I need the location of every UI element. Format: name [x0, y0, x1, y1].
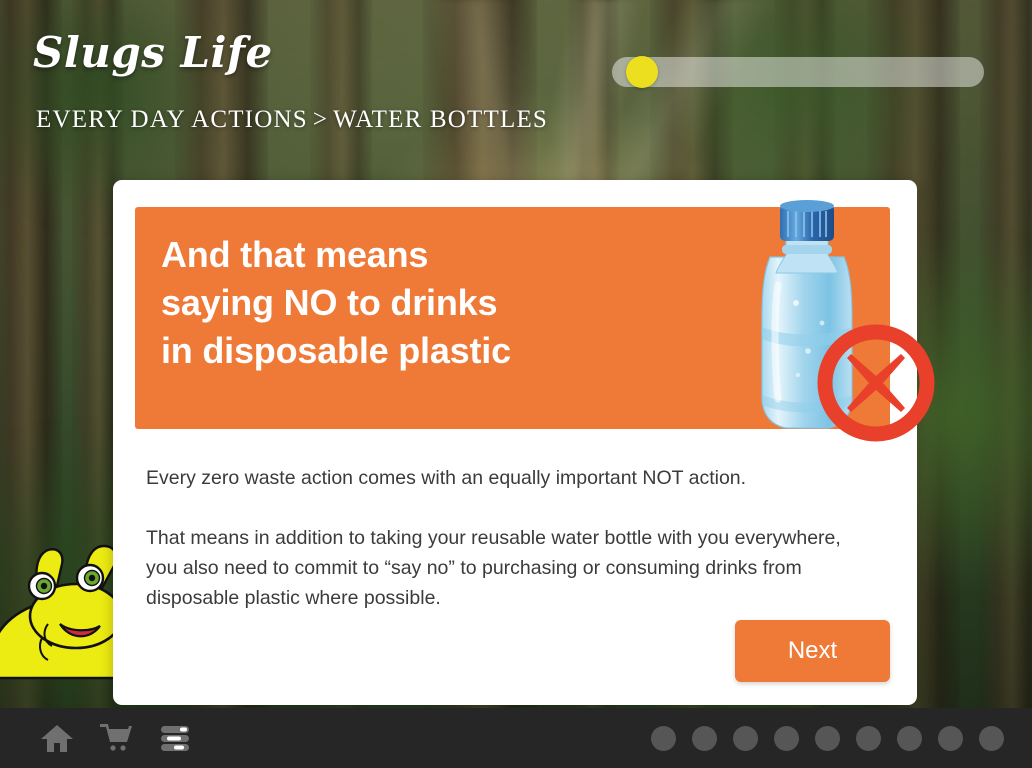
pagination-dot[interactable] [815, 726, 840, 751]
breadcrumb: EVERY DAY ACTIONS>WATER BOTTLES [36, 107, 548, 132]
body-copy: Every zero waste action comes with an eq… [146, 463, 846, 613]
breadcrumb-parent[interactable]: EVERY DAY ACTIONS [36, 106, 308, 133]
pagination-dot[interactable] [651, 726, 676, 751]
headline-banner: And that means saying NO to drinks in di… [135, 207, 890, 429]
progress-knob[interactable] [626, 56, 658, 88]
prohibition-icon [813, 320, 939, 446]
pagination-dot[interactable] [856, 726, 881, 751]
pagination-dot[interactable] [897, 726, 922, 751]
home-icon[interactable] [38, 719, 76, 757]
footer-bar [0, 708, 1032, 768]
pagination-dot[interactable] [774, 726, 799, 751]
footer-icon-group [38, 708, 194, 768]
settings-sliders-icon[interactable] [156, 719, 194, 757]
cart-icon[interactable] [97, 719, 135, 757]
pagination-dot[interactable] [979, 726, 1004, 751]
content-card: And that means saying NO to drinks in di… [113, 180, 917, 705]
pagination-dots [651, 708, 1004, 768]
body-paragraph-1: Every zero waste action comes with an eq… [146, 463, 846, 493]
headline-text: And that means saying NO to drinks in di… [161, 231, 721, 375]
pagination-dot[interactable] [692, 726, 717, 751]
next-button[interactable]: Next [735, 620, 890, 682]
breadcrumb-separator: > [313, 106, 328, 133]
pagination-dot[interactable] [938, 726, 963, 751]
app-title: Slugs Life [33, 32, 273, 74]
breadcrumb-current: WATER BOTTLES [333, 106, 548, 133]
body-paragraph-2: That means in addition to taking your re… [146, 523, 846, 613]
pagination-dot[interactable] [733, 726, 758, 751]
progress-bar[interactable] [612, 57, 984, 87]
app-stage: Slugs Life EVERY DAY ACTIONS>WATER BOTTL… [0, 0, 1032, 768]
progress-track [612, 57, 984, 87]
